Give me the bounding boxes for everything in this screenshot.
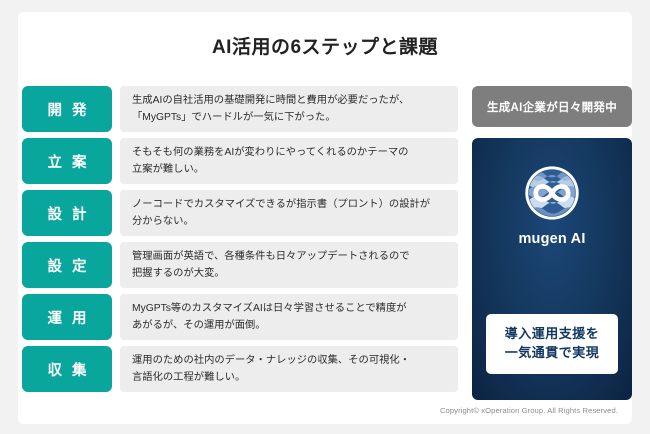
cta-line: 導入運用支援を — [492, 325, 612, 344]
step-description: 生成AIの自社活用の基礎開発に時間と費用が必要だったが、 「MyGPTs」でハー… — [120, 86, 458, 132]
step-description-line: 管理画面が英語で、各種条件も日々アップデートされるので — [132, 249, 446, 266]
step-description: ノーコードでカスタマイズできるが指示書（プロント）の設計が 分からない。 — [120, 190, 458, 236]
step-row: 開 発 生成AIの自社活用の基礎開発に時間と費用が必要だったが、 「MyGPTs… — [22, 86, 458, 132]
step-description-line: 生成AIの自社活用の基礎開発に時間と費用が必要だったが、 — [132, 93, 446, 110]
step-description-line: あがるが、その運用が面倒。 — [132, 318, 446, 335]
brand-panel: mugen AI 導入運用支援を 一気通貫で実現 — [472, 138, 632, 400]
step-row: 設 定 管理画面が英語で、各種条件も日々アップデートされるので 把握するのが大変… — [22, 242, 458, 288]
step-badge-kaihatsu: 開 発 — [22, 86, 112, 132]
step-row: 設 計 ノーコードでカスタマイズできるが指示書（プロント）の設計が 分からない。 — [22, 190, 458, 236]
step-description-line: 運用のための社内のデータ・ナレッジの収集、その可視化・ — [132, 353, 446, 370]
step-description: そもそも何の業務をAIが変わりにやってくれるのかテーマの 立案が難しい。 — [120, 138, 458, 184]
step-badge-shuushuu: 収 集 — [22, 346, 112, 392]
cta-line: 一気通貫で実現 — [492, 344, 612, 363]
infographic-card: AI活用の6ステップと課題 開 発 生成AIの自社活用の基礎開発に時間と費用が必… — [18, 12, 632, 424]
step-description: MyGPTs等のカスタマイズAIは日々学習させることで精度が あがるが、その運用… — [120, 294, 458, 340]
step-row: 立 案 そもそも何の業務をAIが変わりにやってくれるのかテーマの 立案が難しい。 — [22, 138, 458, 184]
right-column: 生成AI企業が日々開発中 mugen — [472, 86, 632, 400]
step-description-line: 言語化の工程が難しい。 — [132, 370, 446, 387]
step-description: 管理画面が英語で、各種条件も日々アップデートされるので 把握するのが大変。 — [120, 242, 458, 288]
step-badge-settei: 設 定 — [22, 242, 112, 288]
dev-status-badge: 生成AI企業が日々開発中 — [472, 86, 632, 127]
step-description-line: 立案が難しい。 — [132, 162, 446, 179]
infinity-wave-circle-logo — [523, 164, 581, 222]
step-description-line: 把握するのが大変。 — [132, 266, 446, 283]
step-badge-ritsuan: 立 案 — [22, 138, 112, 184]
step-badge-sekkei: 設 計 — [22, 190, 112, 236]
step-description-line: そもそも何の業務をAIが変わりにやってくれるのかテーマの — [132, 145, 446, 162]
step-description-line: 「MyGPTs」でハードルが一気に下がった。 — [132, 110, 446, 127]
page-title: AI活用の6ステップと課題 — [18, 32, 632, 59]
cta-box: 導入運用支援を 一気通貫で実現 — [486, 314, 618, 374]
steps-list: 開 発 生成AIの自社活用の基礎開発に時間と費用が必要だったが、 「MyGPTs… — [22, 86, 458, 392]
step-description: 運用のための社内のデータ・ナレッジの収集、その可視化・ 言語化の工程が難しい。 — [120, 346, 458, 392]
step-description-line: 分からない。 — [132, 214, 446, 231]
step-row: 運 用 MyGPTs等のカスタマイズAIは日々学習させることで精度が あがるが、… — [22, 294, 458, 340]
brand-name: mugen AI — [518, 231, 585, 247]
copyright-notice: Copyright© xOperation Group. All Rights … — [440, 406, 618, 415]
step-description-line: ノーコードでカスタマイズできるが指示書（プロント）の設計が — [132, 197, 446, 214]
step-row: 収 集 運用のための社内のデータ・ナレッジの収集、その可視化・ 言語化の工程が難… — [22, 346, 458, 392]
step-badge-unyou: 運 用 — [22, 294, 112, 340]
step-description-line: MyGPTs等のカスタマイズAIは日々学習させることで精度が — [132, 301, 446, 318]
